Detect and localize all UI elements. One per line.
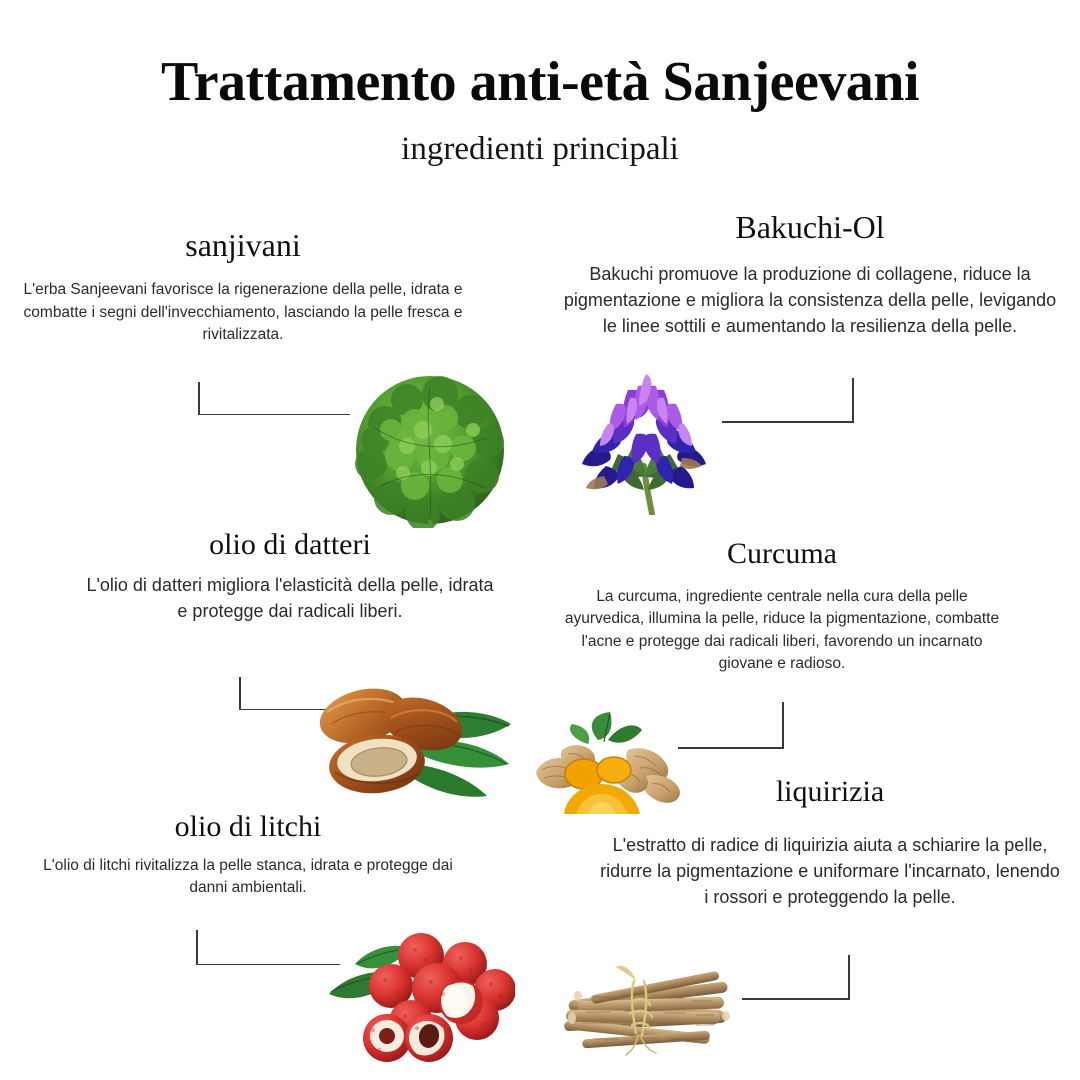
ingredient-name-litchi: olio di litchi (38, 810, 458, 843)
ingredient-description-curcuma: La curcuma, ingrediente centrale nella c… (562, 586, 1002, 676)
ingredient-name-bakuchi: Bakuchi-Ol (560, 210, 1060, 245)
green-herb-bush-image (345, 368, 515, 528)
dates-fruit-image (305, 672, 515, 802)
ingredient-name-sanjivani: sanjivani (18, 228, 468, 263)
infographic-canvas: Trattamento anti-età Sanjeevani ingredie… (0, 0, 1080, 1080)
ingredient-name-curcuma: Curcuma (562, 537, 1002, 570)
ingredient-description-litchi: L'olio di litchi rivitalizza la pelle st… (38, 855, 458, 900)
ingredient-description-bakuchi: Bakuchi promuove la produzione di collag… (560, 261, 1060, 339)
ingredient-description-datteri: L'olio di datteri migliora l'elasticità … (80, 572, 500, 624)
connector-line-litchi (196, 930, 340, 966)
connector-line-liquirizia (742, 955, 850, 1001)
ingredient-block-litchi: olio di litchi L'olio di litchi rivitali… (38, 810, 458, 900)
ingredient-description-sanjivani: L'erba Sanjeevani favorisce la rigeneraz… (18, 279, 468, 346)
connector-line-curcuma (678, 702, 784, 750)
ingredient-name-datteri: olio di datteri (80, 528, 500, 561)
purple-bakuchi-flower-image (570, 370, 720, 515)
ingredient-name-liquirizia: liquirizia (600, 775, 1060, 808)
page-subtitle: ingredienti principali (0, 131, 1080, 168)
connector-line-sanjivani (198, 382, 350, 416)
ingredient-description-liquirizia: L'estratto di radice di liquirizia aiuta… (600, 832, 1060, 910)
licorice-roots-bundle-image (560, 955, 740, 1060)
page-title: Trattamento anti-età Sanjeevani (0, 50, 1080, 114)
connector-line-bakuchi (722, 378, 854, 424)
ingredient-block-bakuchi: Bakuchi-Ol Bakuchi promuove la produzion… (560, 210, 1060, 339)
ingredient-block-sanjivani: sanjivani L'erba Sanjeevani favorisce la… (18, 228, 468, 347)
ingredient-block-curcuma: Curcuma La curcuma, ingrediente centrale… (562, 537, 1002, 676)
ingredient-block-liquirizia: liquirizia L'estratto di radice di liqui… (600, 775, 1060, 910)
ingredient-block-datteri: olio di datteri L'olio di datteri miglio… (80, 528, 500, 624)
lychee-fruit-image (325, 930, 515, 1065)
